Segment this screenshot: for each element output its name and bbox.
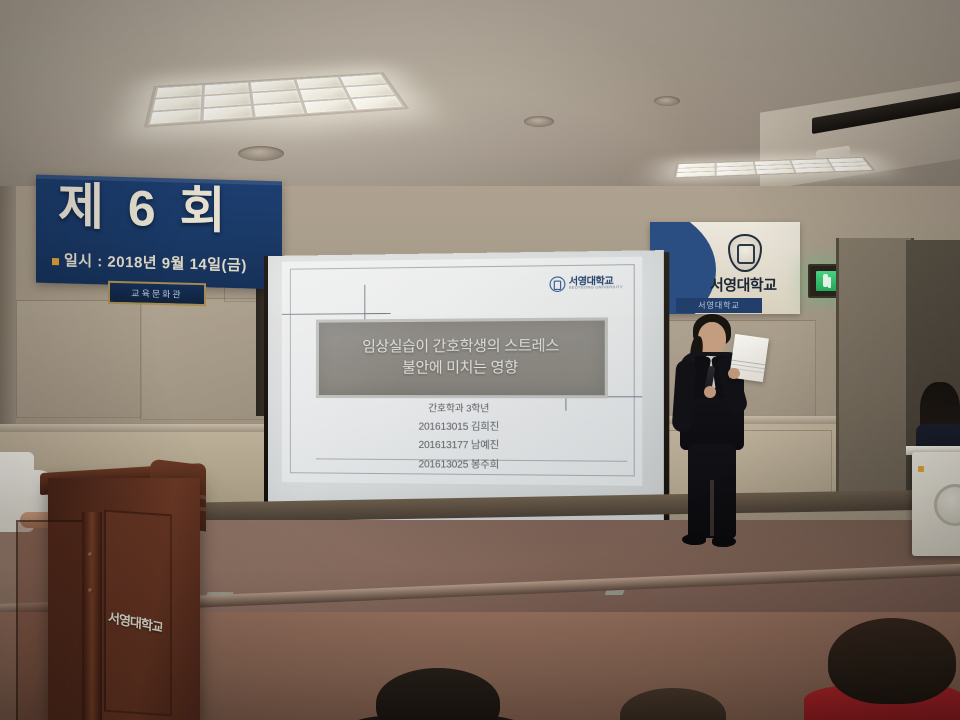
presenter-shoe-right bbox=[712, 536, 736, 547]
presenter bbox=[662, 312, 770, 560]
presentation-slide: 서영대학교 SEOYEONG UNIVERSITY 임상실습이 간호학생의 스트… bbox=[282, 257, 642, 486]
university-name: 서영대학교 bbox=[710, 274, 796, 295]
presenter-hand-left bbox=[704, 386, 716, 398]
cabinet-indicator-light bbox=[918, 466, 924, 472]
university-crest-icon bbox=[550, 276, 566, 292]
banner-date-text: 일시 : 2018년 9월 14일(금) bbox=[64, 252, 247, 274]
slide-decor-line bbox=[364, 313, 390, 314]
logo-english-name: SEOYEONG UNIVERSITY bbox=[569, 287, 623, 291]
podium-center-pillar bbox=[82, 512, 102, 720]
slide-author-1: 201613015 김희진 bbox=[282, 418, 642, 438]
podium-front-panel bbox=[16, 520, 84, 720]
banner-bullet-icon bbox=[52, 258, 59, 265]
presenter-shoe-left bbox=[682, 534, 706, 545]
exit-sign-glass bbox=[816, 271, 838, 291]
banner-date-line: 일시 : 2018년 9월 14일(금) bbox=[52, 249, 282, 276]
wall-plaque: 교육문화관 bbox=[108, 281, 206, 306]
slide-author-block: 간호학과 3학년 201613015 김희진 201613177 남예진 201… bbox=[282, 400, 642, 477]
banner-headline: 제 6 회 bbox=[58, 181, 268, 237]
wall-panel bbox=[140, 298, 272, 420]
university-sign-right: 서영대학교 서영대학교 bbox=[650, 222, 800, 314]
photo-scene: 제 6 회 일시 : 2018년 9월 14일(금) 교육문화관 서영대학교 서… bbox=[0, 0, 960, 720]
sign-lower-strip: 서영대학교 bbox=[676, 298, 762, 313]
slide-affiliation: 간호학과 3학년 bbox=[282, 400, 642, 419]
slide-title-line-2: 불안에 미치는 영향 bbox=[402, 360, 518, 377]
podium-stud bbox=[88, 552, 93, 557]
recessed-downlight bbox=[238, 146, 284, 161]
slide-title-box: 임상실습이 간호학생의 스트레스 불안에 미치는 영향 bbox=[316, 317, 608, 398]
slide-university-logo: 서영대학교 SEOYEONG UNIVERSITY bbox=[550, 276, 623, 292]
recessed-downlight bbox=[654, 96, 680, 106]
screen-surface: 서영대학교 SEOYEONG UNIVERSITY 임상실습이 간호학생의 스트… bbox=[268, 250, 664, 528]
audience-head bbox=[828, 618, 956, 704]
projection-screen: 서영대학교 SEOYEONG UNIVERSITY 임상실습이 간호학생의 스트… bbox=[268, 250, 664, 528]
university-emblem-icon bbox=[728, 234, 762, 272]
recessed-downlight bbox=[524, 116, 554, 127]
wall-panel bbox=[16, 300, 142, 418]
presenter-hand-right bbox=[728, 368, 740, 379]
slide-title: 임상실습이 간호학생의 스트레스 불안에 미치는 영향 bbox=[354, 337, 567, 380]
slide-author-3: 201613025 봉주희 bbox=[282, 455, 642, 477]
logo-text-block: 서영대학교 SEOYEONG UNIVERSITY bbox=[569, 277, 623, 291]
event-banner-left: 제 6 회 일시 : 2018년 9월 14일(금) bbox=[36, 175, 282, 290]
presenter-leg-gap bbox=[710, 480, 714, 536]
slide-title-line-1: 임상실습이 간호학생의 스트레스 bbox=[362, 339, 559, 356]
podium-stud bbox=[88, 588, 93, 593]
side-door-frame bbox=[836, 238, 914, 506]
